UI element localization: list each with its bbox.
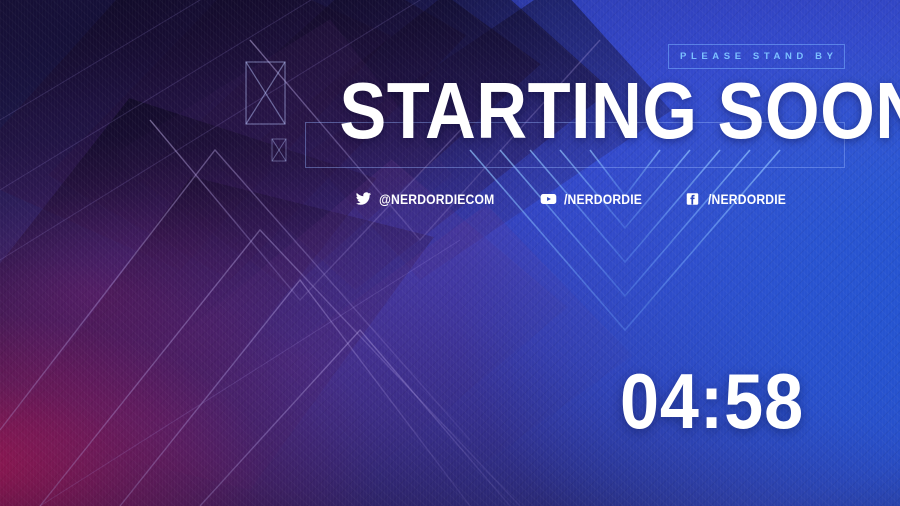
twitter-icon <box>355 192 372 206</box>
stream-starting-soon-overlay: PLEASE STAND BY STARTING SOON @NERDORDIE… <box>0 0 900 506</box>
standby-label: PLEASE STAND BY <box>675 51 837 62</box>
social-handle-facebook: /NERDORDIE <box>708 192 786 207</box>
social-link-facebook[interactable]: /NERDORDIE <box>684 192 795 207</box>
facebook-icon <box>684 192 701 206</box>
social-handle-youtube: /NERDORDIE <box>564 192 642 207</box>
social-links: @NERDORDIECOM /NERDORDIE /NERDORDIE <box>305 188 845 210</box>
page-title: STARTING SOON <box>339 72 814 150</box>
overlay-content: PLEASE STAND BY STARTING SOON @NERDORDIE… <box>0 0 900 506</box>
social-link-twitter[interactable]: @NERDORDIECOM <box>355 192 507 207</box>
social-handle-twitter: @NERDORDIECOM <box>379 192 494 207</box>
social-link-youtube[interactable]: /NERDORDIE <box>540 192 651 207</box>
youtube-icon <box>540 192 557 206</box>
countdown-timer: 04:58 <box>600 362 823 440</box>
